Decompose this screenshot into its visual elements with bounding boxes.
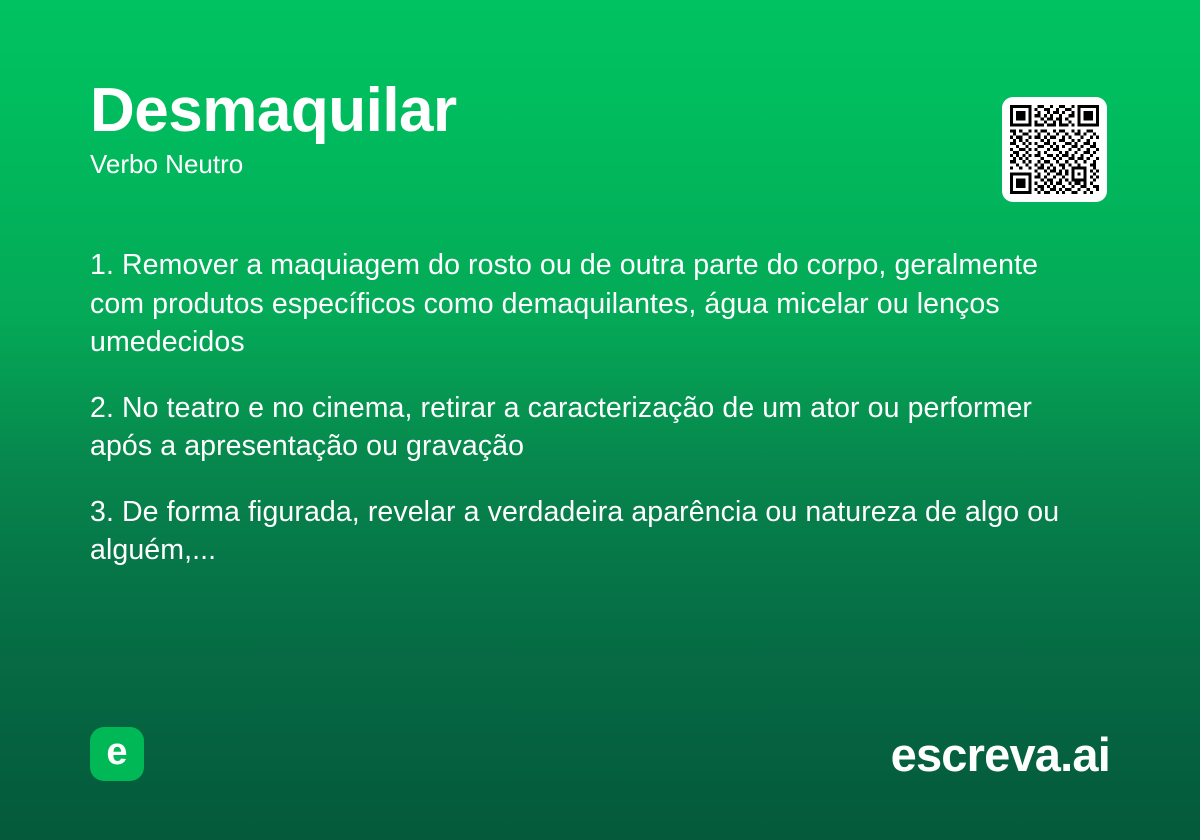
- dictionary-card: Desmaquilar Verbo Neutro: [0, 0, 1200, 840]
- card-footer: e escreva.ai: [90, 726, 1110, 782]
- page-title: Desmaquilar: [90, 78, 1110, 143]
- qr-code-panel[interactable]: [1002, 97, 1107, 202]
- definition-item: 3. De forma figurada, revelar a verdadei…: [90, 493, 1098, 570]
- definition-item: 2. No teatro e no cinema, retirar a cara…: [90, 389, 1098, 466]
- logo-letter: e: [106, 733, 127, 771]
- word-class-subtitle: Verbo Neutro: [90, 149, 1110, 180]
- definitions-list: 1. Remover a maquiagem do rosto ou de ou…: [90, 246, 1098, 570]
- definition-item: 1. Remover a maquiagem do rosto ou de ou…: [90, 246, 1098, 362]
- card-header: Desmaquilar Verbo Neutro: [90, 78, 1110, 180]
- escreva-logo-icon: e: [90, 727, 144, 781]
- qr-code-icon: [1010, 105, 1099, 194]
- brand-wordmark: escreva.ai: [891, 731, 1110, 778]
